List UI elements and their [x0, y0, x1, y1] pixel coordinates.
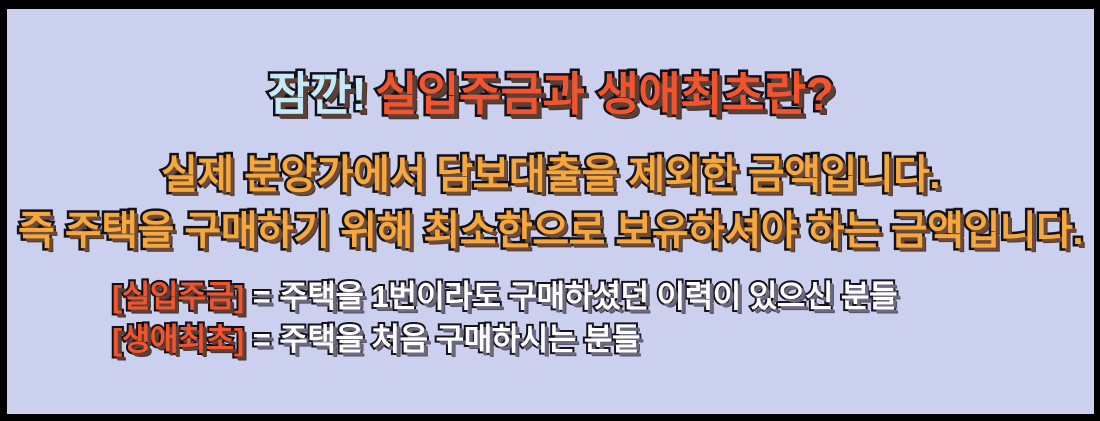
definition-row-2: [생애최초]=주택을 처음 구매하시는 분들 — [7, 324, 1094, 355]
definition-text-1: 주택을 1번이라도 구매하셨던 이력이 있으신 분들 — [279, 279, 897, 314]
definition-text-2: 주택을 처음 구매하시는 분들 — [279, 322, 640, 357]
content-stack: 잠깐!실입주금과 생애최초란? 실제 분양가에서 담보대출을 제외한 금액입니다… — [7, 9, 1094, 414]
title-main: 실입주금과 생애최초란? — [375, 68, 833, 120]
definition-tag-1: [실입주금] — [112, 279, 244, 314]
definition-tag-2: [생애최초] — [112, 322, 244, 357]
body-line-2: 즉 주택을 구매하기 위해 최소한으로 보유하셔야 하는 금액입니다. — [7, 211, 1094, 251]
page-title: 잠깐!실입주금과 생애최초란? — [7, 71, 1094, 117]
title-highlight: 잠깐! — [268, 68, 366, 120]
definition-separator-1: = — [253, 279, 271, 314]
definition-separator-2: = — [253, 322, 271, 357]
body-line-1: 실제 분양가에서 담보대출을 제외한 금액입니다. — [7, 155, 1094, 195]
definition-row-1: [실입주금]=주택을 1번이라도 구매하셨던 이력이 있으신 분들 — [7, 281, 1094, 312]
infographic-card: 잠깐!실입주금과 생애최초란? 실제 분양가에서 담보대출을 제외한 금액입니다… — [0, 0, 1100, 421]
